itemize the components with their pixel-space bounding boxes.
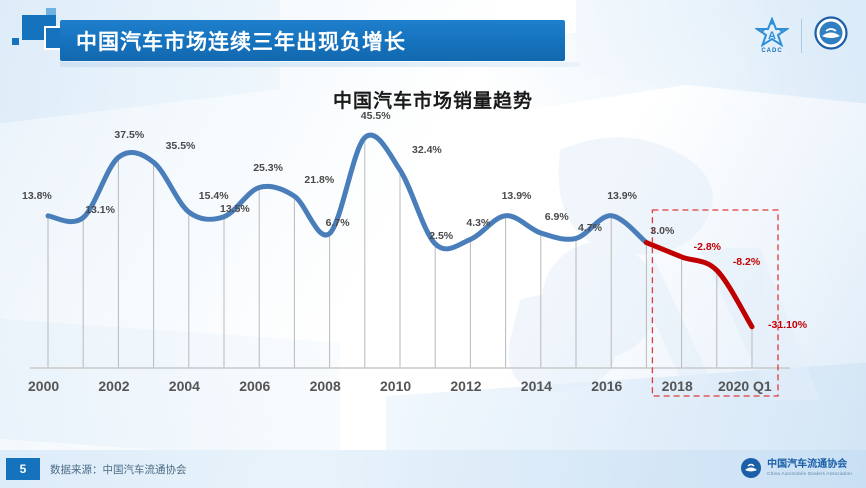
chart-point-label: 32.4%	[412, 144, 442, 156]
x-axis-tick-label: 2012	[450, 378, 481, 394]
chart-point-label: 13.9%	[502, 190, 532, 202]
header-decor-dot	[12, 38, 19, 45]
x-axis-tick-label: 2014	[521, 378, 552, 394]
footer-org-name-cn: 中国汽车流通协会	[767, 460, 852, 471]
logo-divider	[801, 19, 802, 53]
chart-point-label: 25.3%	[253, 162, 283, 174]
x-axis-tick-label: 2006	[239, 378, 270, 394]
chart-point-label: 35.5%	[166, 140, 196, 152]
header-logos: A CADC	[755, 16, 848, 55]
x-axis-tick-label: 2018	[662, 378, 693, 394]
chart-point-label: 4.3%	[466, 217, 490, 229]
chart-point-label: -8.2%	[733, 256, 760, 268]
chart-point-label: 37.5%	[114, 129, 144, 141]
chart-point-label: 13.9%	[607, 190, 637, 202]
chart-point-label: 13.5%	[220, 203, 250, 215]
chart-point-label: 13.1%	[85, 204, 115, 216]
cada-seal-icon	[814, 16, 848, 55]
page-number-badge: 5	[6, 458, 40, 480]
series-line-negative	[646, 243, 752, 327]
svg-text:A: A	[768, 30, 776, 42]
cadc-logo-text: CADC	[761, 48, 782, 54]
footer-org-name-en: China Automobile Dealers Association	[767, 471, 852, 476]
chart-point-label: -2.8%	[694, 241, 721, 253]
chart-x-axis: 2000200220042006200820102012201420162018…	[0, 378, 866, 404]
chart-point-label: 13.8%	[22, 190, 52, 202]
header-banner: 中国汽车市场连续三年出现负增长	[60, 20, 565, 61]
x-axis-tick-label: 2004	[169, 378, 200, 394]
x-axis-tick-label: 2020 Q1	[718, 378, 772, 394]
x-axis-tick-label: 2010	[380, 378, 411, 394]
chart-point-label: 2.5%	[429, 230, 453, 242]
chart-title: 中国汽车市场销量趋势	[0, 86, 866, 113]
cadc-star-icon: A CADC	[755, 17, 789, 54]
series-line-positive	[48, 135, 646, 249]
x-axis-tick-label: 2002	[98, 378, 129, 394]
source-note: 数据来源：中国汽车流通协会	[50, 462, 187, 477]
x-axis-tick-label: 2008	[310, 378, 341, 394]
slide-canvas: 中国汽车市场连续三年出现负增长 A CADC 中国汽车市场销量趋势	[0, 0, 866, 488]
chart-point-label: 3.0%	[650, 225, 674, 237]
chart-point-label: -31.10%	[768, 319, 807, 331]
chart-plot-area: 13.8%13.1%37.5%35.5%15.4%13.5%25.3%21.8%…	[0, 110, 866, 410]
chart-point-label: 21.8%	[304, 174, 334, 186]
chart-point-label: 6.9%	[545, 211, 569, 223]
chart-point-label: 15.4%	[199, 190, 229, 202]
chart-point-label: 4.7%	[578, 222, 602, 234]
chart-point-label: 45.5%	[361, 110, 391, 122]
header-title: 中国汽车市场连续三年出现负增长	[60, 26, 406, 56]
header-underline	[60, 62, 580, 67]
footer-org-logo: 中国汽车流通协会 China Automobile Dealers Associ…	[740, 457, 852, 479]
x-axis-tick-label: 2000	[28, 378, 59, 394]
chart-point-label: 6.7%	[326, 217, 350, 229]
cada-footer-icon	[740, 457, 762, 479]
x-axis-tick-label: 2016	[591, 378, 622, 394]
